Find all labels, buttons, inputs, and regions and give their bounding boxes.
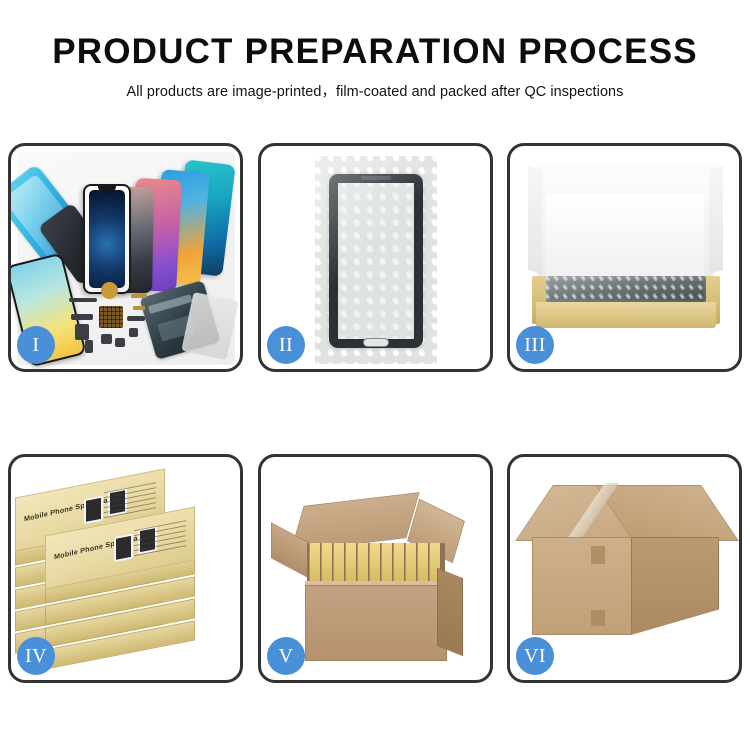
step-badge-4: IV (17, 637, 55, 675)
step-badge-3: III (516, 326, 554, 364)
phone-front-glass (83, 184, 131, 294)
foam-insert (546, 194, 704, 280)
part-bracket (75, 324, 89, 340)
step-badge-2: II (267, 326, 305, 364)
step-panel-2[interactable]: II (258, 143, 493, 372)
part-earpiece (69, 298, 97, 302)
step-panel-6[interactable]: VI (507, 454, 742, 683)
box-lid-screen-image-f1 (114, 533, 133, 562)
part-chip-1 (129, 328, 138, 337)
carton-side-face (437, 568, 463, 657)
box-spec-text-front (134, 520, 186, 560)
carton-front-face (305, 585, 447, 661)
part-speaker-coil (101, 282, 118, 299)
wrapped-phone-screen (329, 174, 423, 348)
sealed-carton-side-face (631, 537, 719, 635)
part-flex-strip-1 (131, 294, 147, 298)
part-chip-3 (115, 338, 125, 347)
step-panel-4[interactable]: Mobile Phone Spare Parts Mobile Phone Sp… (8, 454, 243, 683)
step-panel-3[interactable]: III (507, 143, 742, 372)
step-badge-6: VI (516, 637, 554, 675)
step-badge-5: V (267, 637, 305, 675)
part-chip-2 (101, 334, 112, 344)
part-cable-1 (71, 314, 93, 320)
product-preparation-infographic: PRODUCT PREPARATION PROCESS All products… (0, 0, 750, 750)
step-panel-5[interactable]: V (258, 454, 493, 683)
step-badge-1: I (17, 326, 55, 364)
bubble-wrap-sheet (315, 156, 437, 364)
part-connector-grid (99, 306, 123, 328)
page-subtitle: All products are image-printed，film-coat… (0, 80, 750, 101)
header: PRODUCT PREPARATION PROCESS All products… (0, 34, 750, 101)
packed-screen (546, 276, 706, 302)
carton-seam-upper (591, 546, 605, 564)
phone-wallpaper (89, 190, 125, 288)
steps-grid: I II III (8, 143, 742, 683)
step-panel-1[interactable]: I (8, 143, 243, 372)
phone-notch (98, 186, 116, 191)
phone-fan-group (83, 162, 235, 290)
small-parts-group (67, 280, 187, 364)
home-button (363, 338, 389, 347)
page-title: PRODUCT PREPARATION PROCESS (0, 34, 750, 71)
part-flex-strip-2 (133, 306, 145, 310)
box-tray-front (536, 302, 716, 328)
carton-seam-lower (591, 610, 605, 626)
sealed-carton-front-face (532, 537, 632, 635)
part-sim-tray (85, 340, 93, 353)
box-lid-screen-image-b1 (84, 495, 103, 524)
part-cable-2 (127, 316, 145, 321)
